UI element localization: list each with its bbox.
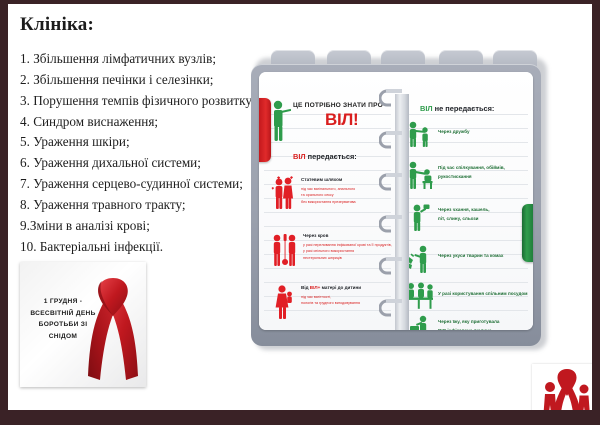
green-bookmark-tab[interactable] [522, 204, 533, 262]
spiral-ring-icon [379, 88, 409, 110]
list-item: 1. Збільшення лімфатичних вузлів; [20, 49, 255, 70]
slide-canvas: Клініка: 1. Збільшення лімфатичних вузлі… [8, 4, 592, 410]
item-line: Через чхання, кашель, [438, 207, 490, 214]
notebook-left-page: ЦЕ ПОТРІБНО ЗНАТИ ПРО ВІЛ! ВІЛ передаєть… [259, 72, 396, 330]
item-line: без використання презерватива [301, 199, 356, 205]
red-bookmark-tab[interactable] [259, 98, 271, 162]
hiv-notebook-infographic: ЦЕ ПОТРІБНО ЗНАТИ ПРО ВІЛ! ВІЛ передаєть… [251, 50, 547, 348]
item-line: ВІЛ-інфікована людина [438, 328, 492, 330]
title-accent: ВІЛ+ [310, 285, 321, 290]
aids-logo-card [532, 364, 592, 410]
heading-accent: ВІЛ [420, 104, 433, 113]
spiral-ring-icon [379, 298, 409, 320]
aids-red-ribbon-icon [82, 270, 144, 382]
heading-accent: ВІЛ [293, 152, 306, 161]
sneeze-icon [408, 202, 432, 232]
list-item: 7. Ураження серцево-судинної системи; [20, 174, 255, 195]
heading-rest: не передається: [433, 104, 495, 113]
item-line: Через дружбу [438, 129, 470, 136]
spiral-ring-icon [379, 256, 409, 278]
list-item: 4. Синдром виснаження; [20, 112, 255, 133]
caregiving-icon [406, 160, 434, 190]
item-title: Статевим шляхом [301, 177, 342, 184]
list-item: 8. Ураження травного тракту; [20, 195, 255, 216]
friendship-icon [406, 120, 432, 148]
notebook-pages: ЦЕ ПОТРІБНО ЗНАТИ ПРО ВІЛ! ВІЛ передаєть… [259, 72, 533, 330]
spiral-ring-icon [379, 214, 409, 236]
title-prefix: Від [301, 285, 310, 290]
heading-rest: передається: [306, 152, 357, 161]
title-suffix: матері до дитини [320, 285, 361, 290]
item-line: Через укуси тварин та комах [438, 253, 503, 260]
list-item: 2. Збільшення печінки і селезінки; [20, 70, 255, 91]
red-ribbon-with-people-icon [538, 365, 592, 410]
notebook-headline: ВІЛ! [325, 110, 358, 130]
spiral-ring-icon [379, 130, 409, 152]
transmitted-section-heading: ВІЛ передається: [293, 152, 357, 161]
notebook-right-page: ВІЛ не передається: Через дружбу [396, 72, 533, 330]
green-presenter-icon [269, 100, 291, 142]
item-line: піт, слину, сльози [438, 216, 479, 223]
list-item: 9.Зміни в аналізі крові; [20, 216, 255, 237]
list-item: 6. Ураження дихальної системи; [20, 153, 255, 174]
notebook-kicker: ЦЕ ПОТРІБНО ЗНАТИ ПРО [293, 102, 383, 109]
spiral-ring-icon [379, 172, 409, 194]
page-title: Клініка: [20, 14, 94, 36]
couple-icon [271, 176, 297, 210]
not-transmitted-section-heading: ВІЛ не передається: [420, 104, 494, 113]
item-title: Від ВІЛ+ матері до дитини [301, 285, 361, 292]
item-title: Через кров [303, 233, 328, 240]
cooking-icon [408, 314, 434, 330]
list-item: 5. Ураження шкіри; [20, 132, 255, 153]
item-line: Через їжу, яку приготувала [438, 319, 499, 326]
item-line: Під час спілкування, обіймів, [438, 165, 505, 172]
item-line: У разі користування спільним посудом [438, 291, 528, 298]
insect-bite-icon [406, 244, 434, 274]
list-item: 10. Бактеріальні інфекції. [20, 237, 255, 258]
list-item: 3. Порушення темпів фізичного розвитку ; [20, 91, 255, 112]
world-aids-day-card: 1 ГРУДНЯ - ВСЕСВІТНІЙ ДЕНЬ БОРОТЬБИ ЗІ С… [20, 262, 146, 387]
blood-transfusion-icon [271, 232, 299, 268]
mother-child-icon [273, 284, 297, 320]
item-line: рукостискання [438, 174, 472, 181]
clinic-symptom-list: 1. Збільшення лімфатичних вузлів; 2. Збі… [20, 49, 255, 258]
item-line: пологів та грудного вигодовування [301, 300, 360, 306]
